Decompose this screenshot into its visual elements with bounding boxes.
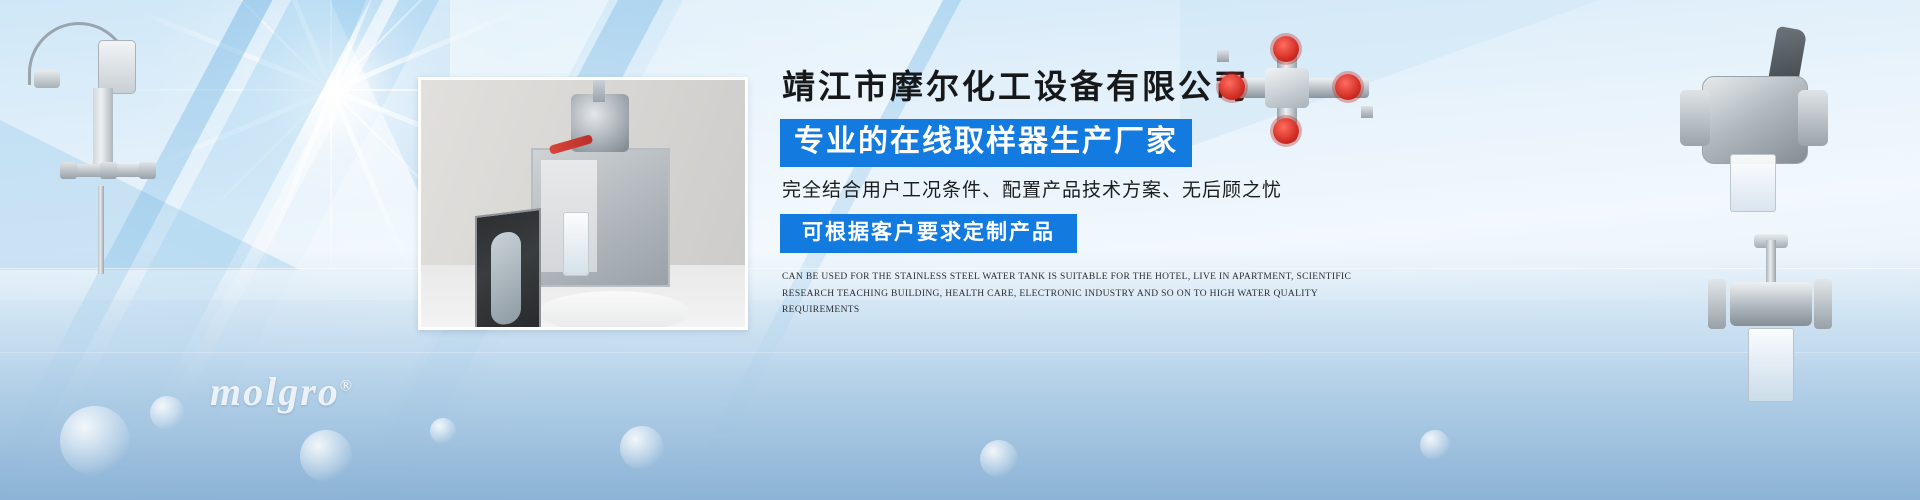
description-text: 完全结合用户工况条件、配置产品技术方案、无后顾之忧 xyxy=(782,181,1400,200)
water-droplet xyxy=(300,430,352,482)
product-image-lever-valve xyxy=(1680,28,1830,218)
custom-product-badge: 可根据客户要求定制产品 xyxy=(780,214,1077,253)
promotional-banner: 靖江市摩尔化工设备有限公司 专业的在线取样器生产厂家 完全结合用户工况条件、配置… xyxy=(0,0,1920,500)
horizon-line xyxy=(0,352,1920,353)
product-image-red-valve-manifold xyxy=(1215,38,1375,148)
tagline-badge: 专业的在线取样器生产厂家 xyxy=(780,119,1192,167)
english-description: CAN BE USED FOR THE STAINLESS STEEL WATE… xyxy=(782,269,1382,319)
water-droplet xyxy=(60,406,130,476)
main-product-photo xyxy=(418,77,748,330)
water-droplet xyxy=(430,418,456,444)
registered-trademark-icon: ® xyxy=(340,378,354,395)
water-droplet xyxy=(620,426,664,470)
water-droplet xyxy=(1420,430,1450,460)
water-droplet xyxy=(150,396,184,430)
product-image-sampling-valve xyxy=(1700,240,1850,410)
water-droplet xyxy=(980,440,1018,478)
watermark-text: molgro xyxy=(210,369,340,414)
brand-watermark: molgro® xyxy=(210,368,354,415)
product-image-sampler-rig xyxy=(10,22,170,292)
